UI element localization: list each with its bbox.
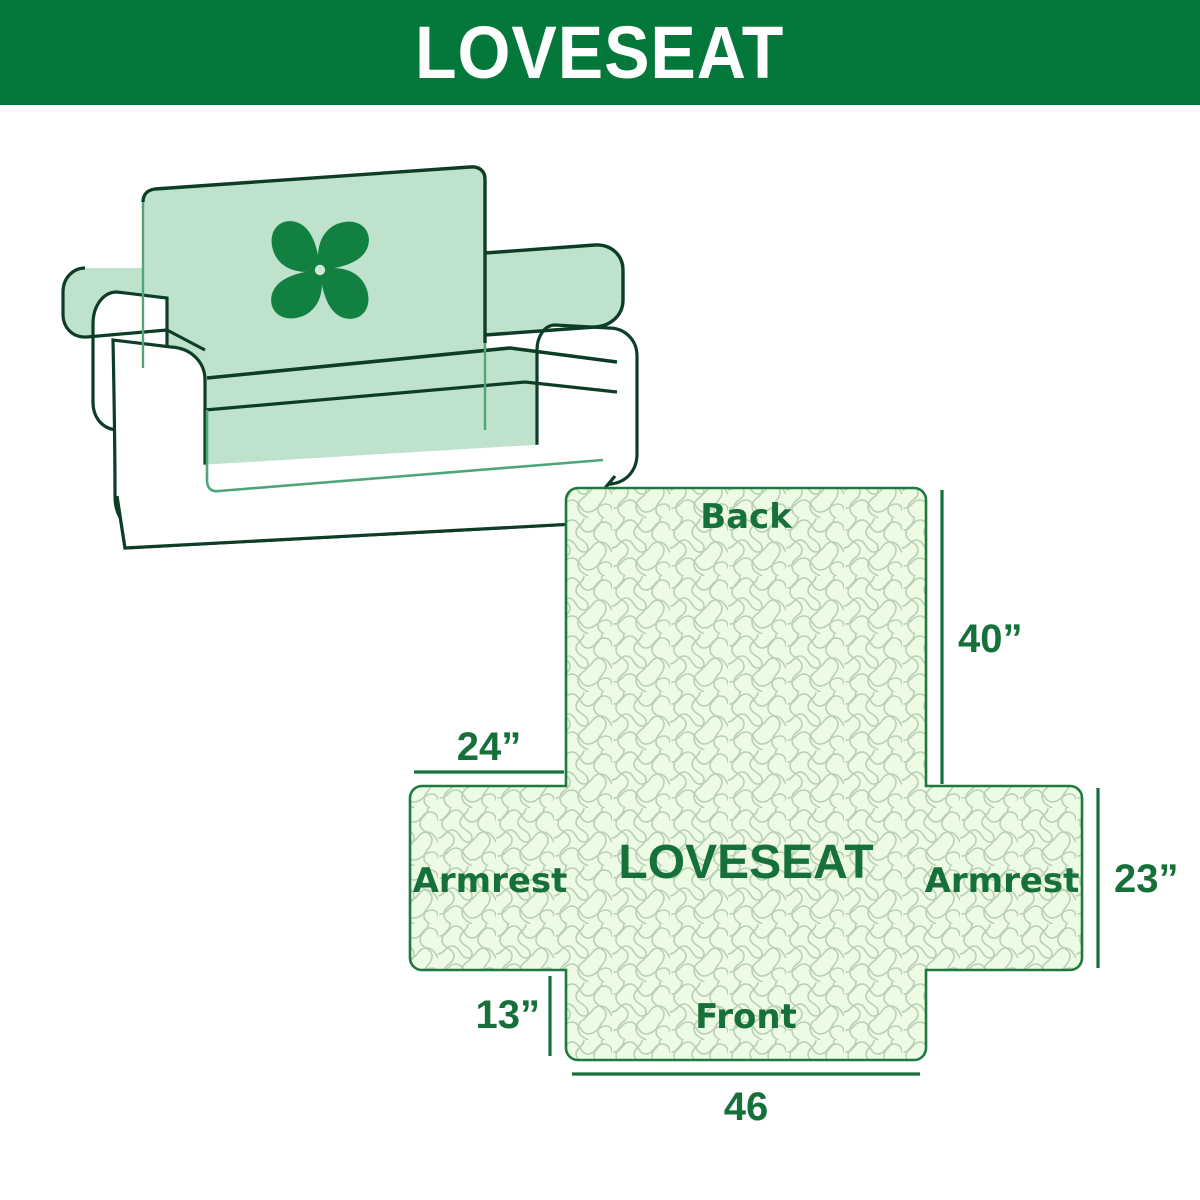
panel-label-back: Back (700, 497, 793, 537)
dimension-value-40: 40” (958, 617, 1023, 661)
dimension-armrest-width: 24” (414, 725, 564, 772)
header-banner: LOVESEAT (0, 0, 1200, 105)
dimension-seat-height: 23” (1098, 788, 1179, 968)
panel-label-front: Front (695, 997, 797, 1037)
dimension-value-13: 13” (476, 993, 541, 1037)
cross-pattern-drawing: Back Armrest Armrest Front LOVESEAT 40” … (380, 460, 1200, 1140)
dimension-value-24: 24” (457, 725, 522, 769)
flat-pattern-diagram: Back Armrest Armrest Front LOVESEAT 40” … (380, 460, 1200, 1140)
dimension-back-height: 40” (942, 490, 1023, 784)
panel-label-armrest-right: Armrest (925, 861, 1080, 901)
flat-pattern-title: LOVESEAT (618, 836, 873, 889)
panel-label-armrest-left: Armrest (413, 861, 568, 901)
dimension-front-height: 13” (476, 976, 551, 1056)
dimension-value-23: 23” (1114, 857, 1179, 901)
slipcover-flat-shape (410, 488, 1082, 1060)
dimension-front-width: 46 (572, 1074, 920, 1129)
dimension-value-46: 46 (724, 1085, 769, 1129)
page-title: LOVESEAT (415, 16, 784, 90)
